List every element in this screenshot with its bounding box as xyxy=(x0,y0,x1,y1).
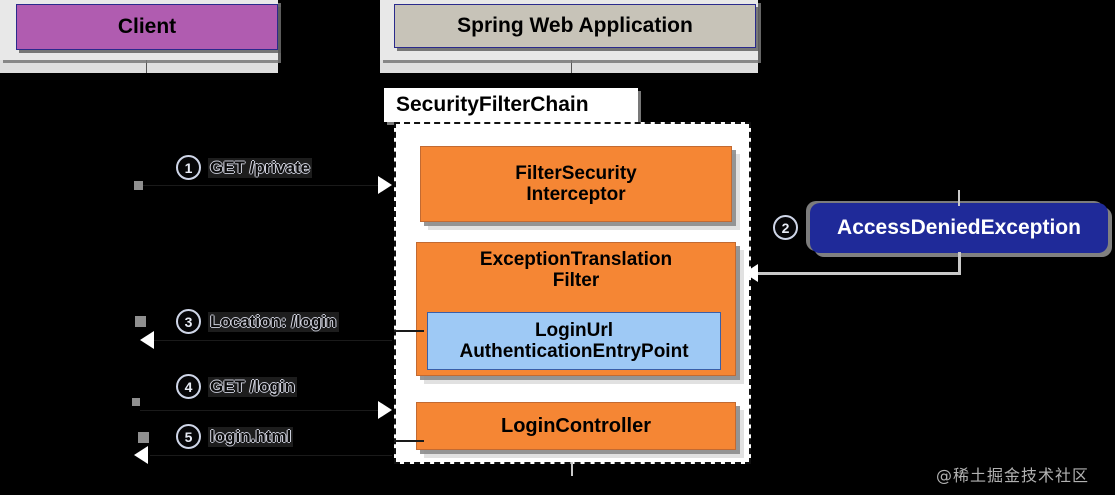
message-1: 1 GET /private xyxy=(176,155,312,180)
exception-label: AccessDeniedException xyxy=(837,216,1081,240)
arrow-line-2-drop xyxy=(958,252,961,274)
participant-client[interactable]: Client xyxy=(16,4,278,50)
component-etf-label-line1: ExceptionTranslation xyxy=(480,249,672,270)
component-loginurlauthenticationentrypoint[interactable]: LoginUrl AuthenticationEntryPoint xyxy=(427,312,721,370)
message-2: 2 xyxy=(773,215,798,240)
message-4: 4 GET /login xyxy=(176,374,297,399)
message-3-text: Location: /login xyxy=(208,312,339,332)
participant-client-label: Client xyxy=(118,15,176,39)
message-3: 3 Location: /login xyxy=(176,309,339,334)
participant-spring-web-application[interactable]: Spring Web Application xyxy=(394,4,756,48)
message-3-number: 3 xyxy=(176,309,201,334)
message-1-number: 1 xyxy=(176,155,201,180)
arrow-1-origin-nub xyxy=(134,181,143,190)
package-drop-line-mid xyxy=(394,330,424,332)
message-5: 5 login.html xyxy=(176,424,293,449)
package-bottom-tick xyxy=(571,462,573,476)
component-fsi-label-line1: FilterSecurity xyxy=(515,163,636,184)
arrow-head-3-icon xyxy=(140,331,154,349)
message-4-text: GET /login xyxy=(208,377,297,397)
arrow-head-1-icon xyxy=(378,176,392,194)
message-1-text: GET /private xyxy=(208,158,312,178)
arrow-line-5 xyxy=(150,455,392,456)
arrow-line-4 xyxy=(140,410,380,411)
component-logincontroller[interactable]: LoginController xyxy=(416,402,736,450)
diagram-canvas: Client Spring Web Application SecurityFi… xyxy=(0,0,1115,495)
arrow-head-4-icon xyxy=(378,401,392,419)
message-4-number: 4 xyxy=(176,374,201,399)
arrow-head-5-icon xyxy=(134,446,148,464)
arrow-line-3 xyxy=(150,340,392,341)
arrow-head-2-icon xyxy=(744,264,758,282)
component-fsi-label-line2: Interceptor xyxy=(526,184,625,205)
package-tab-securityfilterchain: SecurityFilterChain xyxy=(384,88,638,122)
watermark: @稀土掘金技术社区 xyxy=(936,462,1089,486)
message-5-number: 5 xyxy=(176,424,201,449)
message-2-number: 2 xyxy=(773,215,798,240)
package-drop-line-bottom xyxy=(394,440,424,442)
component-filtersecurityinterceptor[interactable]: FilterSecurity Interceptor xyxy=(420,146,732,222)
arrow-line-1 xyxy=(140,185,380,186)
watermark-text: @稀土掘金技术社区 xyxy=(936,466,1089,485)
package-label: SecurityFilterChain xyxy=(396,93,589,117)
component-etf-label-line2: Filter xyxy=(553,270,599,291)
component-luaep-label-line1: LoginUrl xyxy=(535,320,613,341)
message-5-text: login.html xyxy=(208,427,293,447)
arrow-3-origin-nub xyxy=(135,316,146,327)
component-lc-label: LoginController xyxy=(501,415,651,437)
exception-accessdeniedexception[interactable]: AccessDeniedException xyxy=(810,203,1108,253)
component-luaep-label-line2: AuthenticationEntryPoint xyxy=(459,341,688,362)
participant-spring-label: Spring Web Application xyxy=(457,14,693,38)
exception-lifeline-top xyxy=(958,190,960,206)
arrow-4-origin-nub xyxy=(132,398,140,406)
arrow-line-2 xyxy=(756,272,961,275)
arrow-5-origin-nub xyxy=(138,432,149,443)
